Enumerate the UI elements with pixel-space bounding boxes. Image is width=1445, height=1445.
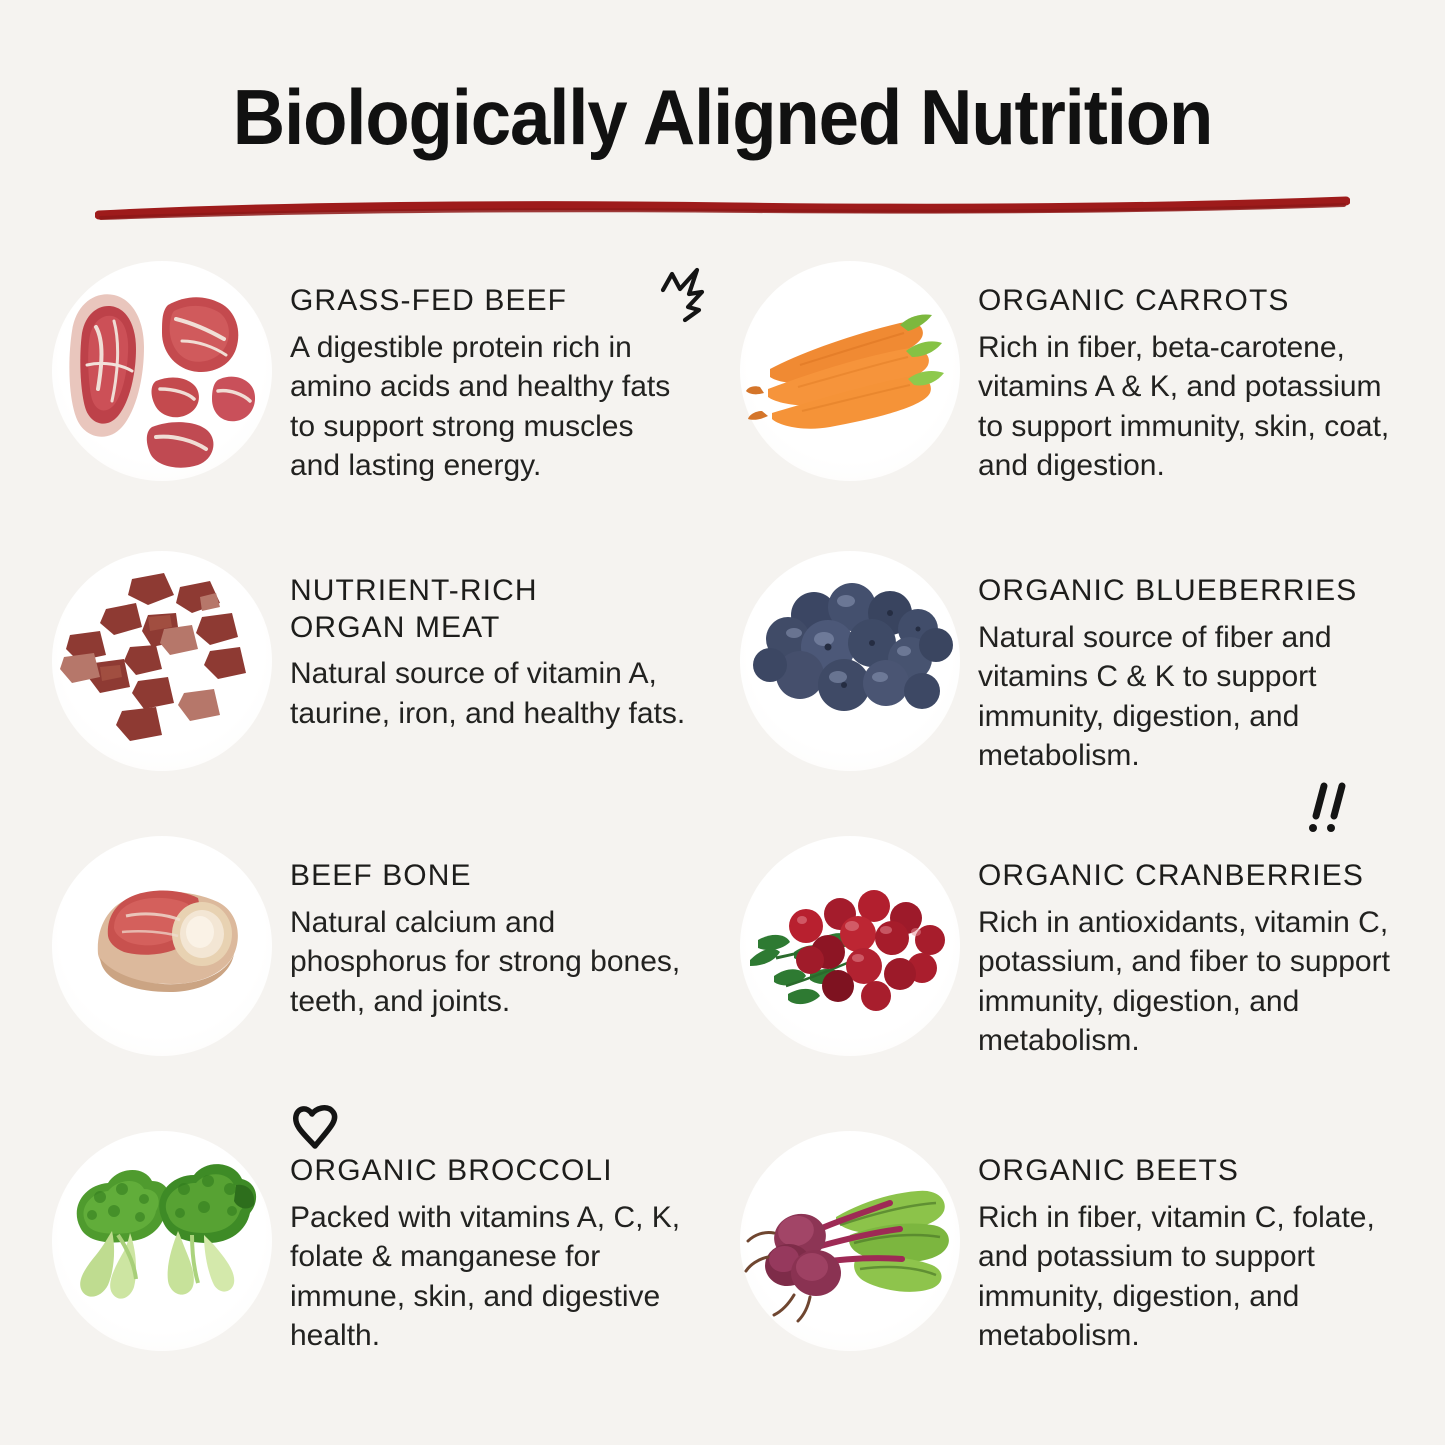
cranberries-text: ORGANIC CRANBERRIES Rich in antioxidants… (960, 830, 1393, 1061)
item-description: Rich in fiber, beta-carotene, vitamins A… (978, 328, 1393, 486)
item-title: NUTRIENT-RICH ORGAN MEAT (290, 573, 690, 646)
item-organic-cranberries: ORGANIC CRANBERRIES Rich in antioxidants… (722, 830, 1445, 1125)
three-whole-carrots-photo (740, 261, 960, 481)
grid-row: NUTRIENT-RICH ORGAN MEAT Natural source … (0, 545, 1445, 830)
beef-bone-thumbnail (52, 836, 272, 1056)
item-title: BEEF BONE (290, 858, 690, 895)
item-description: Packed with vitamins A, C, K, folate & m… (290, 1198, 690, 1356)
item-organic-carrots: ORGANIC CARROTS Rich in fiber, beta-caro… (722, 255, 1445, 545)
title-underline-rule (95, 195, 1350, 235)
organ-meat-text: NUTRIENT-RICH ORGAN MEAT Natural source … (272, 545, 690, 733)
diced-organ-meat-chunks-photo (52, 551, 272, 771)
item-description: Natural calcium and phosphorus for stron… (290, 903, 690, 1022)
item-title: ORGANIC BLUEBERRIES (978, 573, 1393, 610)
beets-thumbnail (740, 1131, 960, 1351)
grid-row: ORGANIC BROCCOLI Packed with vitamins A,… (0, 1125, 1445, 1415)
grid-row: BEEF BONE Natural calcium and phosphorus… (0, 830, 1445, 1125)
item-description: Rich in antioxidants, vitamin C, potassi… (978, 903, 1393, 1061)
organ-meat-thumbnail (52, 551, 272, 771)
nutrition-item-grid: GRASS-FED BEEF A digestible protein rich… (0, 255, 1445, 1415)
blueberries-text: ORGANIC BLUEBERRIES Natural source of fi… (960, 545, 1393, 776)
beef-marrow-bone-photo (52, 836, 272, 1056)
beef-thumbnail (52, 261, 272, 481)
broccoli-text: ORGANIC BROCCOLI Packed with vitamins A,… (272, 1125, 690, 1356)
beets-with-greens-photo (740, 1131, 960, 1351)
item-title: ORGANIC CARROTS (978, 283, 1393, 320)
cranberries-with-leaves-photo (740, 836, 960, 1056)
item-title: ORGANIC BEETS (978, 1153, 1393, 1190)
carrots-thumbnail (740, 261, 960, 481)
two-broccoli-florets-photo (52, 1131, 272, 1351)
item-grass-fed-beef: GRASS-FED BEEF A digestible protein rich… (0, 255, 722, 545)
broccoli-thumbnail (52, 1131, 272, 1351)
raw-steak-and-beef-cubes-photo (52, 261, 272, 481)
item-organic-broccoli: ORGANIC BROCCOLI Packed with vitamins A,… (0, 1125, 722, 1415)
beets-text: ORGANIC BEETS Rich in fiber, vitamin C, … (960, 1125, 1393, 1356)
item-description: Natural source of fiber and vitamins C &… (978, 618, 1393, 776)
item-description: A digestible protein rich in amino acids… (290, 328, 690, 486)
beef-bone-text: BEEF BONE Natural calcium and phosphorus… (272, 830, 690, 1021)
item-description: Natural source of vitamin A, taurine, ir… (290, 654, 690, 733)
item-title: GRASS-FED BEEF (290, 283, 690, 320)
item-title: ORGANIC BROCCOLI (290, 1153, 690, 1190)
item-title: ORGANIC CRANBERRIES (978, 858, 1393, 895)
beef-text: GRASS-FED BEEF A digestible protein rich… (272, 255, 690, 486)
cranberries-thumbnail (740, 836, 960, 1056)
item-organic-beets: ORGANIC BEETS Rich in fiber, vitamin C, … (722, 1125, 1445, 1415)
blueberries-thumbnail (740, 551, 960, 771)
item-nutrient-rich-organ-meat: NUTRIENT-RICH ORGAN MEAT Natural source … (0, 545, 722, 830)
item-description: Rich in fiber, vitamin C, folate, and po… (978, 1198, 1393, 1356)
item-beef-bone: BEEF BONE Natural calcium and phosphorus… (0, 830, 722, 1125)
page-title: Biologically Aligned Nutrition (51, 0, 1395, 156)
header: Biologically Aligned Nutrition (0, 0, 1445, 156)
item-organic-blueberries: ORGANIC BLUEBERRIES Natural source of fi… (722, 545, 1445, 830)
grid-row: GRASS-FED BEEF A digestible protein rich… (0, 255, 1445, 545)
carrots-text: ORGANIC CARROTS Rich in fiber, beta-caro… (960, 255, 1393, 486)
pile-of-blueberries-photo (740, 551, 960, 771)
